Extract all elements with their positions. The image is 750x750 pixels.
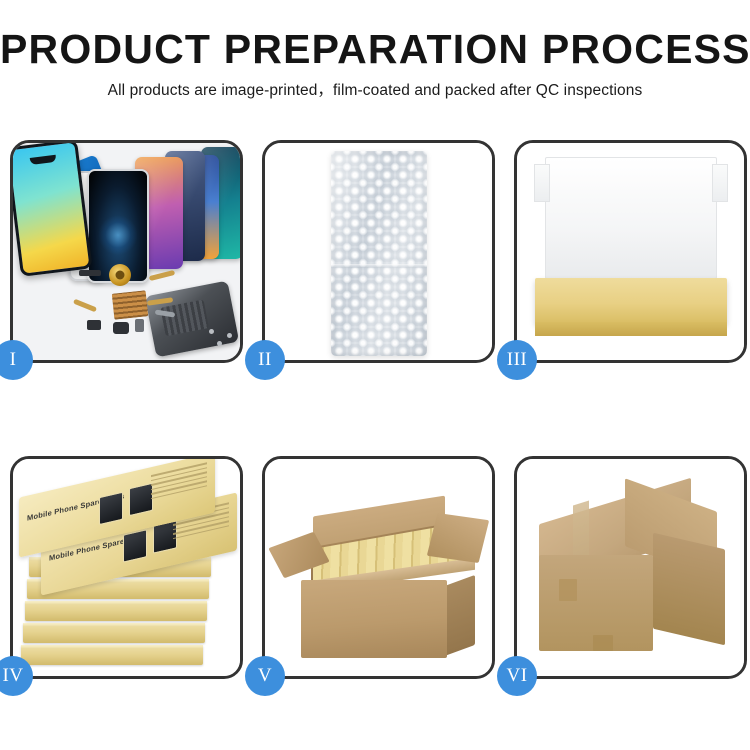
copper-mesh-icon <box>112 290 149 319</box>
kraft-box-tray-icon <box>535 278 727 324</box>
carton-tab-icon <box>559 579 577 601</box>
step-badge-3: III <box>497 340 537 380</box>
flex-cable-icon <box>149 270 175 281</box>
screw-icon <box>217 341 222 346</box>
chip-part-icon <box>135 319 144 332</box>
step-6-image <box>517 459 744 676</box>
box-lid-icon <box>545 157 717 279</box>
step-card-3: III <box>514 140 747 363</box>
bubble-wrap-icon <box>331 151 427 356</box>
box-spec-lines <box>151 462 207 502</box>
carton-front-icon <box>301 580 447 658</box>
page-subtitle: All products are image-printed，film-coat… <box>0 81 750 100</box>
screw-icon <box>227 333 232 338</box>
step-card-1: I <box>10 140 243 363</box>
step-2-image <box>265 143 492 360</box>
step-card-2: II <box>262 140 495 363</box>
step-5-image <box>265 459 492 676</box>
screw-icon <box>209 329 214 334</box>
flex-cable-icon <box>73 299 97 313</box>
step-3-image <box>517 143 744 360</box>
kraft-box-side-icon <box>535 322 727 336</box>
product-preparation-infographic: PRODUCT PREPARATION PROCESS All products… <box>0 0 750 750</box>
chip-part-icon <box>113 322 129 334</box>
carton-tab-icon <box>593 635 613 651</box>
carton-flap-right-icon <box>427 513 489 563</box>
header: PRODUCT PREPARATION PROCESS All products… <box>0 26 750 100</box>
step-card-6: VI <box>514 456 747 679</box>
speaker-coil-icon <box>109 264 131 286</box>
carton-side-icon <box>447 575 475 655</box>
box-phone-image <box>99 492 123 526</box>
phone-chassis-icon <box>145 281 239 358</box>
chip-part-icon <box>79 270 101 276</box>
chip-part-icon <box>87 320 101 330</box>
stacked-box-icon <box>21 645 203 665</box>
step-4-image: Mobile Phone Spare Parts Mobile Phone Sp… <box>13 459 240 676</box>
carton-side-icon <box>653 533 725 646</box>
step-1-image <box>13 143 240 360</box>
process-steps-grid: I II III <box>10 140 741 680</box>
stacked-box-icon <box>25 601 207 621</box>
step-card-4: Mobile Phone Spare Parts Mobile Phone Sp… <box>10 456 243 679</box>
step-card-5: V <box>262 456 495 679</box>
step-badge-5: V <box>245 656 285 696</box>
stacked-box-icon <box>23 623 205 643</box>
page-title: PRODUCT PREPARATION PROCESS <box>0 26 750 72</box>
bubble-wrap-seam <box>331 264 427 268</box>
box-phone-image <box>129 483 153 517</box>
step-badge-4: IV <box>0 656 33 696</box>
step-badge-1: I <box>0 340 33 380</box>
box-phone-image <box>123 529 147 563</box>
step-badge-2: II <box>245 340 285 380</box>
step-badge-6: VI <box>497 656 537 696</box>
